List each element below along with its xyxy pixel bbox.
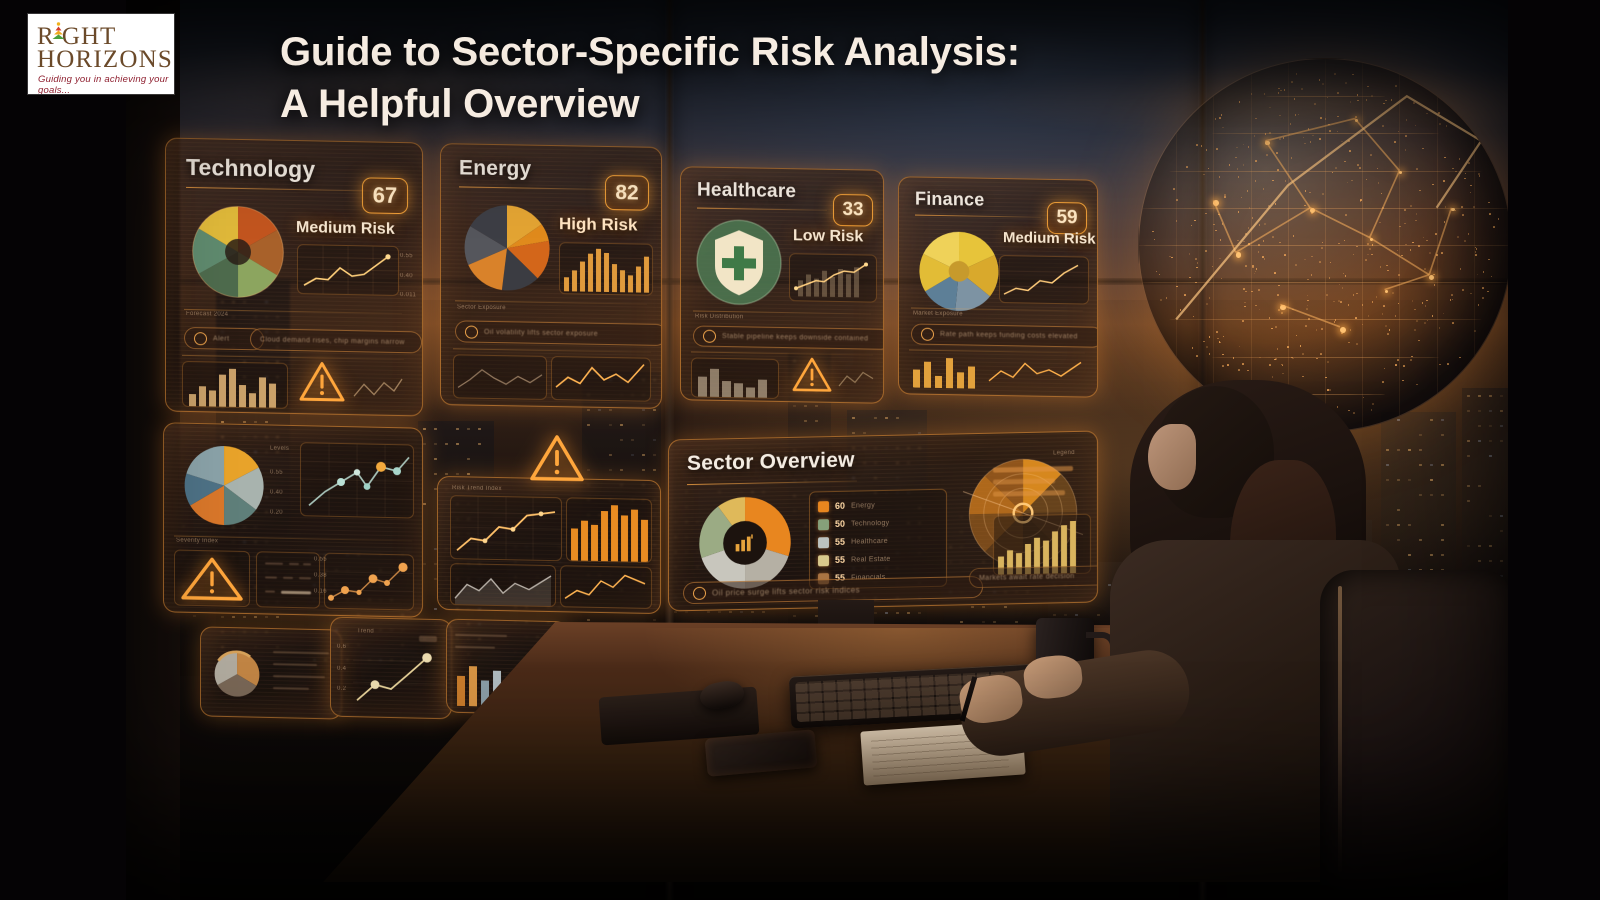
line-chart-technology bbox=[297, 244, 399, 296]
ticker-finance[interactable]: Rate path keeps funding costs elevated bbox=[911, 323, 1098, 347]
pie-chart-card bbox=[209, 646, 265, 703]
status-dot bbox=[194, 332, 207, 345]
area-chart-energy bbox=[453, 354, 547, 400]
legend-label: Energy bbox=[851, 502, 875, 510]
legend-swatch bbox=[818, 519, 829, 530]
right-letterbox bbox=[1508, 0, 1600, 900]
legend-value: 60 bbox=[835, 501, 845, 511]
pie-chart-energy bbox=[455, 196, 559, 300]
line-chart-trend-2 bbox=[560, 565, 652, 609]
risk-label-energy: High Risk bbox=[559, 214, 637, 235]
line-chart-finance bbox=[999, 255, 1089, 305]
sparkline-healthcare bbox=[837, 364, 875, 398]
line-chart-analytics bbox=[300, 442, 414, 518]
scatter-chart-analytics bbox=[324, 553, 414, 611]
warning-triangle-technology[interactable] bbox=[298, 359, 346, 404]
status-dot bbox=[693, 586, 706, 599]
logo-line-2: HORIZONS bbox=[37, 46, 173, 74]
status-text: Alert bbox=[213, 335, 229, 342]
panel-healthcare[interactable]: Healthcare 33 Low Risk Ri bbox=[680, 166, 884, 404]
brand-logo[interactable]: R GHT HORIZONS Guiding you in achieving … bbox=[28, 14, 174, 94]
panel-title-sector-overview: Sector Overview bbox=[687, 449, 855, 477]
score-badge-energy: 82 bbox=[605, 175, 649, 211]
bar-chart-healthcare bbox=[691, 357, 779, 399]
status-dot bbox=[465, 325, 478, 338]
risk-label-finance: Medium Risk bbox=[1003, 229, 1096, 248]
risk-label-technology: Medium Risk bbox=[296, 219, 395, 239]
bar-chart-trend bbox=[566, 497, 652, 563]
legend-value: 55 bbox=[835, 537, 845, 547]
card-line-label: Trend bbox=[357, 628, 374, 634]
panel-trend[interactable]: Risk Trend Index bbox=[437, 476, 661, 614]
chair-seam bbox=[1338, 586, 1342, 872]
logo-tagline: Guiding you in achieving your goals... bbox=[38, 74, 174, 94]
line-chart-energy bbox=[551, 356, 651, 402]
pie-chart-technology bbox=[182, 197, 294, 307]
legend-label: Real Estate bbox=[851, 555, 891, 563]
legend-label: Technology bbox=[851, 519, 889, 527]
bar-chart-energy bbox=[559, 242, 653, 296]
title-line-2: A Helpful Overview bbox=[280, 78, 1220, 130]
ticker-text: Cloud demand rises, chip margins narrow bbox=[260, 336, 405, 346]
line-chart-card bbox=[353, 640, 445, 708]
office-chair bbox=[1320, 570, 1510, 890]
panel-title-finance: Finance bbox=[915, 189, 984, 211]
shield-cross-icon-healthcare bbox=[693, 215, 785, 309]
score-badge-technology: 67 bbox=[362, 177, 408, 214]
ticker-technology[interactable]: Cloud demand rises, chip margins narrow bbox=[250, 328, 422, 353]
kpi-icons-analytics bbox=[256, 551, 320, 608]
ticker-text: Stable pipeline keeps downside contained bbox=[722, 333, 868, 343]
legend-value: 50 bbox=[835, 519, 845, 529]
card-pie[interactable] bbox=[200, 626, 342, 719]
panel-analytics[interactable]: Levels 0.55 0.40 0.20 Severity Index bbox=[163, 422, 423, 617]
panel-finance[interactable]: Finance 59 Medium Risk Market bbox=[898, 176, 1098, 397]
line-chart-healthcare bbox=[789, 253, 877, 303]
risk-label-healthcare: Low Risk bbox=[793, 227, 863, 246]
bar-chart-technology bbox=[182, 361, 288, 409]
page-title: Guide to Sector-Specific Risk Analysis: … bbox=[280, 26, 1220, 130]
ticker-energy[interactable]: Oil volatility lifts sector exposure bbox=[455, 320, 662, 346]
ticker-text: Oil volatility lifts sector exposure bbox=[484, 328, 598, 337]
ticker-text-secondary: Markets await rate decision bbox=[979, 572, 1075, 581]
legend-swatch bbox=[818, 555, 829, 566]
panel-technology[interactable]: Technology 67 Medium Risk bbox=[165, 138, 423, 417]
score-badge-healthcare: 33 bbox=[833, 194, 873, 227]
panel-title-energy: Energy bbox=[459, 156, 531, 181]
ticker-secondary-sector-overview[interactable]: Markets await rate decision bbox=[969, 565, 1098, 588]
pie-chart-analytics bbox=[176, 438, 272, 534]
ticker-text: Rate path keeps funding costs elevated bbox=[940, 331, 1078, 340]
legend-value: 55 bbox=[835, 555, 845, 565]
status-dot bbox=[921, 328, 934, 341]
legend-swatch bbox=[818, 501, 829, 512]
warning-triangle-trend[interactable] bbox=[528, 431, 586, 484]
pie-chart-finance bbox=[911, 223, 1007, 319]
sparkline-technology bbox=[352, 370, 404, 405]
area-chart-trend bbox=[450, 563, 556, 607]
status-dot bbox=[703, 330, 716, 343]
scene-root: Technology 67 Medium Risk bbox=[0, 0, 1600, 900]
panel-title-healthcare: Healthcare bbox=[697, 180, 796, 204]
legend-swatch bbox=[818, 537, 829, 548]
pyramid-star-icon bbox=[50, 22, 67, 47]
line-chart-trend bbox=[450, 495, 562, 561]
title-line-1: Guide to Sector-Specific Risk Analysis: bbox=[280, 26, 1220, 78]
panel-energy[interactable]: Energy 82 High Risk bbox=[440, 143, 662, 409]
ticker-healthcare[interactable]: Stable pipeline keeps downside contained bbox=[693, 325, 884, 349]
panel-sector-overview[interactable]: Sector Overview 60Energy50Technology55He… bbox=[668, 430, 1098, 611]
analyst-face bbox=[1148, 424, 1196, 490]
legend-label: Healthcare bbox=[851, 537, 888, 545]
bar-rows-sector-overview bbox=[991, 460, 1087, 502]
left-letterbox bbox=[0, 0, 126, 900]
legend-sector-overview: 60Energy50Technology55Healthcare55Real E… bbox=[809, 489, 947, 590]
panel-title-technology: Technology bbox=[186, 154, 315, 183]
ticker-text: Oil price surge lifts sector risk indice… bbox=[712, 585, 860, 597]
bar-chart-finance bbox=[909, 355, 981, 388]
warning-card-analytics[interactable] bbox=[174, 550, 250, 608]
card-line[interactable]: Trend 0.6 0.4 0.2 bbox=[330, 617, 452, 720]
line-chart-finance-2 bbox=[987, 357, 1085, 391]
warning-triangle-healthcare[interactable] bbox=[791, 355, 833, 394]
